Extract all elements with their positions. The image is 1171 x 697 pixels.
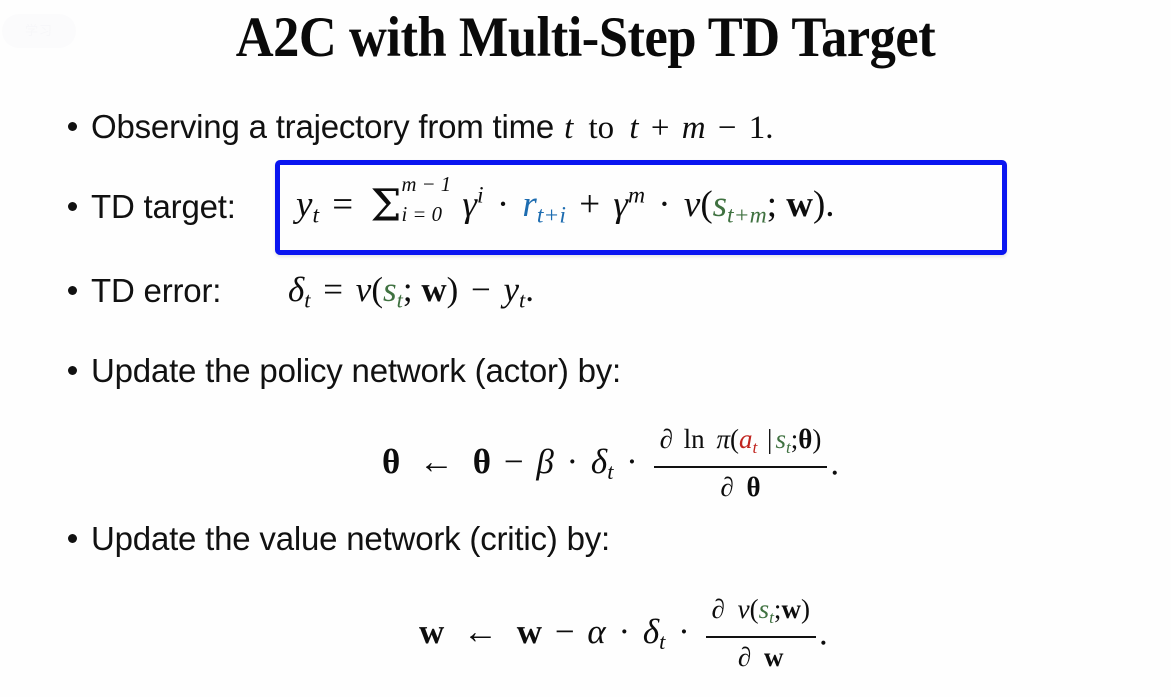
fraction-denominator: ∂ w bbox=[706, 638, 816, 673]
time-t-end: t bbox=[629, 110, 638, 146]
bullet-label: TD error: bbox=[91, 272, 221, 310]
fraction-numerator: ∂ ln π(at |st;θ) bbox=[654, 423, 828, 468]
semicolon: ; bbox=[403, 270, 413, 309]
sigma-glyph: Σ bbox=[370, 181, 401, 232]
bullet-update-value: Update the value network (critic) by: bbox=[68, 520, 610, 558]
pi-policy: π bbox=[711, 424, 730, 454]
dot-operator-2: · bbox=[674, 612, 694, 651]
action-symbol: a bbox=[739, 424, 753, 454]
value-function-v: v bbox=[356, 270, 372, 309]
reward-subscript: t+i bbox=[537, 203, 566, 229]
weights-w: w bbox=[781, 594, 801, 624]
trajectory-inline-math: t to t + m − 1. bbox=[564, 112, 773, 145]
partial-symbol: ∂ bbox=[738, 642, 751, 672]
slide-canvas: 学习 A2C with Multi-Step TD Target Observi… bbox=[0, 0, 1171, 697]
open-paren: ( bbox=[700, 184, 712, 225]
action-subscript: t bbox=[752, 438, 757, 457]
natural-log: ln bbox=[680, 424, 705, 454]
delta-symbol: δ bbox=[591, 442, 607, 481]
state-symbol: s bbox=[713, 184, 727, 225]
theta-lhs: θ bbox=[382, 442, 400, 481]
y-symbol: y bbox=[504, 270, 520, 309]
close-paren: ) bbox=[447, 270, 459, 309]
word-to: to bbox=[582, 110, 622, 146]
one-constant: 1 bbox=[749, 110, 766, 146]
bullet-label: TD target: bbox=[91, 188, 236, 226]
value-update-equation: w ← w − α · δt · ∂ v(st;w) ∂ w . bbox=[419, 595, 828, 675]
bullet-td-target: TD target: bbox=[68, 188, 236, 226]
theta-param: θ bbox=[740, 472, 760, 502]
close-paren: ) bbox=[801, 594, 810, 624]
period: . bbox=[819, 614, 828, 653]
dot-operator-2: · bbox=[622, 442, 642, 481]
bullet-dot-icon bbox=[68, 122, 77, 131]
value-gradient-fraction: ∂ v(st;w) ∂ w bbox=[706, 593, 816, 673]
fraction-denominator: ∂ θ bbox=[654, 468, 828, 503]
dot-operator: · bbox=[614, 612, 634, 651]
delta-symbol: δ bbox=[643, 612, 659, 651]
weights-w: w bbox=[421, 270, 446, 309]
assign-arrow: ← bbox=[409, 442, 464, 481]
delta-symbol: δ bbox=[288, 270, 304, 309]
state-symbol: s bbox=[775, 424, 786, 454]
equals-operator: = bbox=[319, 270, 347, 309]
y-symbol: y bbox=[296, 184, 312, 225]
period: . bbox=[765, 110, 773, 146]
bullet-dot-icon bbox=[68, 534, 77, 543]
dot-operator-2: · bbox=[654, 184, 674, 225]
state-symbol: s bbox=[759, 594, 770, 624]
summation-lower-limit: i = 0 bbox=[402, 205, 452, 227]
conditional-bar: | bbox=[764, 424, 775, 454]
minus-operator: − bbox=[467, 270, 495, 309]
theta-param: θ bbox=[798, 424, 812, 454]
value-function-v: v bbox=[732, 594, 750, 624]
period: . bbox=[825, 184, 834, 225]
gamma-symbol: γ bbox=[462, 184, 477, 225]
summation-operator: Σ m − 1 i = 0 bbox=[370, 183, 451, 229]
semicolon: ; bbox=[767, 184, 777, 225]
period: . bbox=[525, 270, 534, 309]
assign-arrow: ← bbox=[453, 612, 508, 651]
equals-operator: = bbox=[328, 184, 357, 225]
bullet-td-error: TD error: bbox=[68, 272, 221, 310]
policy-gradient-fraction: ∂ ln π(at |st;θ) ∂ θ bbox=[654, 423, 828, 503]
minus-operator: − bbox=[500, 442, 528, 481]
bullet-update-policy: Update the policy network (actor) by: bbox=[68, 352, 621, 390]
partial-symbol: ∂ bbox=[660, 424, 673, 454]
plus-operator: + bbox=[575, 184, 604, 225]
theta-rhs: θ bbox=[473, 442, 491, 481]
steps-m: m bbox=[682, 110, 706, 146]
open-paren: ( bbox=[371, 270, 383, 309]
gamma-exponent-i: i bbox=[477, 182, 484, 208]
bullet-label: Update the policy network (actor) by: bbox=[91, 352, 621, 390]
period: . bbox=[830, 444, 839, 483]
reward-symbol: r bbox=[522, 184, 536, 225]
page-title: A2C with Multi-Step TD Target bbox=[47, 6, 1124, 70]
partial-symbol: ∂ bbox=[712, 594, 725, 624]
state-symbol: s bbox=[383, 270, 397, 309]
delta-subscript: t bbox=[304, 287, 310, 312]
w-lhs: w bbox=[419, 612, 444, 651]
close-paren: ) bbox=[812, 424, 821, 454]
delta-subscript: t bbox=[607, 459, 613, 484]
state-subscript: t+m bbox=[727, 203, 767, 229]
td-error-equation: δt = v(st; w) − yt. bbox=[288, 272, 534, 312]
bullet-observing-trajectory: Observing a trajectory from time t to t … bbox=[68, 108, 773, 146]
minus-operator: − bbox=[551, 612, 579, 651]
policy-update-equation: θ ← θ − β · δt · ∂ ln π(at |st;θ) ∂ θ . bbox=[382, 425, 839, 505]
bullet-label: Update the value network (critic) by: bbox=[91, 520, 610, 558]
partial-symbol: ∂ bbox=[720, 472, 733, 502]
dot-operator: · bbox=[563, 442, 583, 481]
td-target-equation: yt = Σ m − 1 i = 0 γi · rt+i + γm · v(st… bbox=[296, 183, 835, 229]
fraction-numerator: ∂ v(st;w) bbox=[706, 593, 816, 638]
open-paren: ( bbox=[730, 424, 739, 454]
y-subscript: t bbox=[312, 203, 319, 229]
bullet-dot-icon bbox=[68, 366, 77, 375]
time-t-start: t bbox=[564, 110, 573, 146]
bullet-dot-icon bbox=[68, 202, 77, 211]
minus-operator: − bbox=[714, 110, 741, 146]
close-paren: ) bbox=[813, 184, 825, 225]
weights-w: w bbox=[786, 184, 813, 225]
bullet-dot-icon bbox=[68, 286, 77, 295]
gamma-symbol-2: γ bbox=[613, 184, 628, 225]
open-paren: ( bbox=[750, 594, 759, 624]
dot-operator: · bbox=[493, 184, 513, 225]
weights-w: w bbox=[758, 642, 784, 672]
summation-upper-limit: m − 1 bbox=[402, 175, 452, 197]
w-rhs: w bbox=[517, 612, 542, 651]
bullet-label: Observing a trajectory from time bbox=[91, 108, 554, 146]
beta-learning-rate: β bbox=[536, 442, 553, 481]
alpha-learning-rate: α bbox=[587, 612, 605, 651]
delta-subscript: t bbox=[659, 629, 665, 654]
plus-operator: + bbox=[647, 110, 674, 146]
value-function-v: v bbox=[684, 184, 700, 225]
gamma-exponent-m: m bbox=[628, 182, 645, 208]
summation-limits: m − 1 i = 0 bbox=[402, 181, 452, 224]
